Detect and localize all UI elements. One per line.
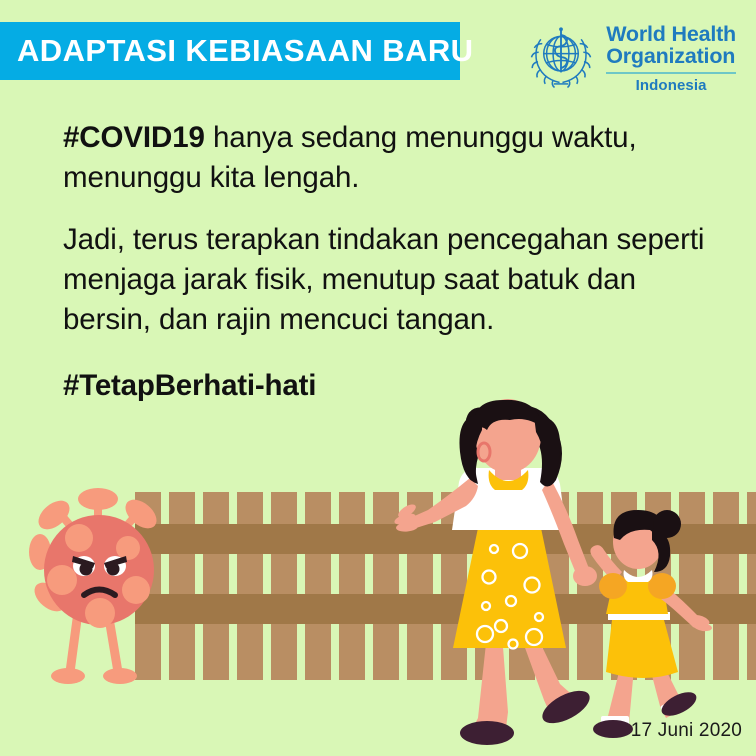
banner-title: ADAPTASI KEBIASAAN BARU <box>0 33 473 69</box>
wooden-fence <box>135 492 756 680</box>
who-country-label: Indonesia <box>606 77 736 94</box>
header-banner: ADAPTASI KEBIASAAN BARU <box>0 22 460 80</box>
date-stamp: 17 Juni 2020 <box>631 720 742 742</box>
message-body: #COVID19 hanya sedang menunggu waktu, me… <box>63 118 713 403</box>
who-line-1: World Health <box>606 24 736 46</box>
covid19-hashtag: #COVID19 <box>63 121 205 154</box>
who-emblem-icon <box>525 22 597 94</box>
woman-figure <box>393 399 597 745</box>
who-divider <box>606 72 736 74</box>
who-logo: World Health Organization Indonesia <box>525 22 736 94</box>
child-figure <box>590 510 712 738</box>
who-line-2: Organization <box>606 46 736 68</box>
paragraph-one: #COVID19 hanya sedang menunggu waktu, me… <box>63 118 713 198</box>
angry-virus-character <box>29 488 162 684</box>
who-wordmark: World Health Organization Indonesia <box>606 22 736 94</box>
poster-canvas: ADAPTASI KEBIASAAN BARU <box>0 0 756 756</box>
paragraph-two: Jadi, terus terapkan tindakan pencegahan… <box>63 220 713 340</box>
campaign-hashtag: #TetapBerhati-hati <box>63 369 713 403</box>
